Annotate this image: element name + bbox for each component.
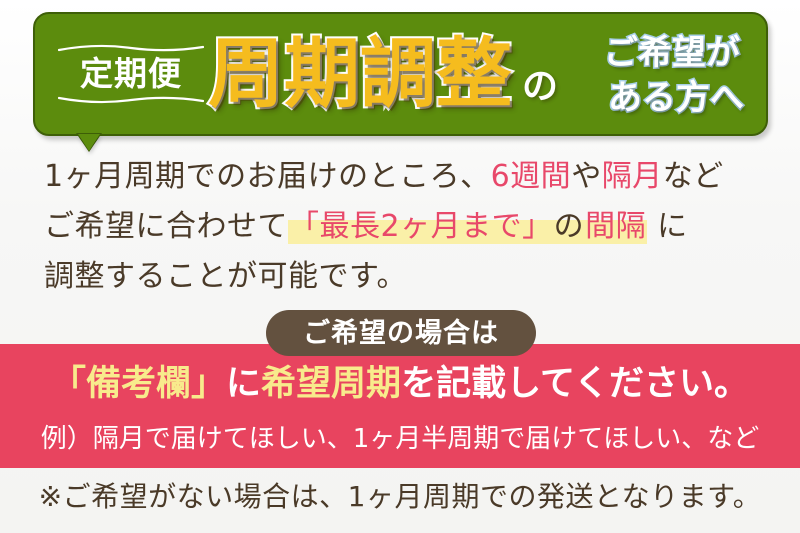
header-subtitle-line-1: ご希望が [604, 31, 740, 76]
header-title: 周期調整 の [208, 24, 558, 124]
body-line-2: ご希望に合わせて「最長2ヶ月まで」の間隔 に [44, 202, 784, 252]
request-case-badge: ご希望の場合は [266, 310, 536, 356]
header-subtitle-line-2: ある方へ [608, 76, 744, 121]
pink-band-example-line: 例）隔月で届けてほしい、1ヶ月半周期で届けてほしい、など [0, 420, 800, 458]
body-line-1-seg-1: 1ヶ月周期でのお届けのところ、 [44, 159, 491, 194]
subscription-badge: 定期便 [56, 35, 206, 113]
pink-main-emphasis-remarks: 「備考欄」 [51, 364, 226, 404]
pink-main-seg-4: を記載してください。 [401, 364, 749, 404]
header-subtitle: ご希望が ある方へ [604, 28, 772, 124]
body-line-1-emphasis-bimonthly: 隔月 [602, 159, 663, 194]
body-line-2-highlight-particle: の [554, 209, 585, 244]
wave-rule-bottom-icon [58, 95, 204, 104]
body-line-1-seg-3: や [571, 159, 602, 194]
body-line-2-highlight-max2months: 「最長2ヶ月まで」 [288, 209, 554, 244]
body-paragraph: 1ヶ月周期でのお届けのところ、6週間や隔月など ご希望に合わせて「最長2ヶ月まで… [44, 152, 784, 302]
subscription-badge-label: 定期便 [80, 53, 182, 95]
header-banner: 定期便 周期調整 の ご希望が ある方へ [0, 0, 800, 150]
bubble-tail-icon [78, 134, 100, 151]
body-line-1: 1ヶ月周期でのお届けのところ、6週間や隔月など [44, 152, 784, 202]
body-line-2-highlight-interval: 間隔 [584, 209, 647, 244]
body-line-1-seg-5: など [663, 159, 724, 194]
pink-band-main-line: 「備考欄」に希望周期を記載してください。 [0, 362, 800, 406]
wave-rule-top-icon [58, 44, 204, 53]
pink-main-seg-2: に [226, 364, 261, 404]
body-line-1-emphasis-6weeks: 6週間 [491, 159, 572, 194]
request-case-badge-label: ご希望の場合は [303, 320, 499, 347]
footer-note: ※ご希望がない場合は、1ヶ月周期での発送となります。 [0, 476, 800, 518]
body-line-2-seg-1: ご希望に合わせて [44, 209, 288, 244]
body-line-2-seg-5: に [647, 209, 688, 244]
pink-main-emphasis-cycle: 希望周期 [261, 364, 401, 404]
body-line-3: 調整することが可能です。 [44, 252, 784, 302]
header-title-main: 周期調整 [208, 36, 512, 112]
header-title-particle: の [522, 69, 558, 105]
